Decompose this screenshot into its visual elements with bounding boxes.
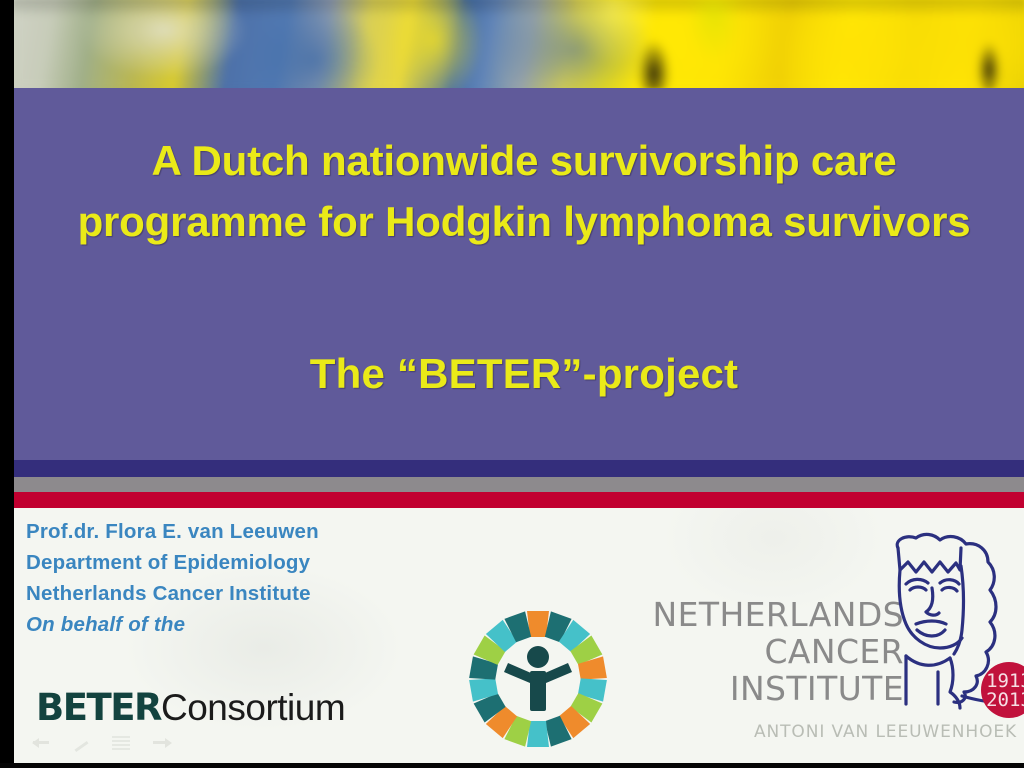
beter-sunburst-logo	[458, 605, 618, 757]
page-title: A Dutch nationwide survivorship care pro…	[34, 130, 1014, 253]
badge-year-bottom: 2013	[986, 689, 1024, 711]
nki-line-3: INSTITUTE	[614, 670, 904, 707]
slide-body: Prof.dr. Flora E. van Leeuwen Department…	[14, 508, 1024, 763]
divider-navy	[14, 460, 1024, 477]
divider-grey	[14, 477, 1024, 492]
divider-red	[14, 492, 1024, 508]
presentation-slide: A Dutch nationwide survivorship care pro…	[0, 0, 1024, 768]
author-name: Prof.dr. Flora E. van Leeuwen	[26, 516, 496, 547]
banner-blur-overlay	[14, 0, 1024, 88]
title-block: A Dutch nationwide survivorship care pro…	[14, 88, 1024, 460]
beter-figure-icon	[504, 646, 572, 711]
author-department: Department of Epidemiology	[26, 547, 496, 578]
bottom-letterbox-border	[0, 763, 1024, 768]
slide-menu-icon[interactable]	[112, 736, 132, 750]
author-on-behalf: On behalf of the	[26, 609, 496, 640]
nki-line-2: CANCER	[614, 633, 904, 670]
nki-line-1: NETHERLANDS	[614, 596, 904, 633]
previous-slide-icon[interactable]	[32, 736, 52, 750]
leeuwenhoek-face-logo: 1913 2013	[876, 526, 1024, 726]
next-slide-icon[interactable]	[152, 736, 172, 750]
beter-wordmark-text: BETER	[36, 686, 161, 729]
presentation-nav-controls[interactable]	[32, 736, 172, 750]
author-institute: Netherlands Cancer Institute	[26, 578, 496, 609]
page-subtitle: The “BETER”-project	[34, 350, 1014, 398]
consortium-wordmark-text: Consortium	[161, 687, 345, 728]
beter-consortium-wordmark: BETERConsortium	[36, 686, 345, 729]
author-block: Prof.dr. Flora E. van Leeuwen Department…	[26, 516, 496, 640]
pen-annotate-icon[interactable]	[72, 736, 92, 750]
flower-photo-banner	[14, 0, 1024, 88]
left-letterbox-border	[0, 0, 14, 768]
centenary-badge: 1913 2013	[981, 662, 1024, 718]
